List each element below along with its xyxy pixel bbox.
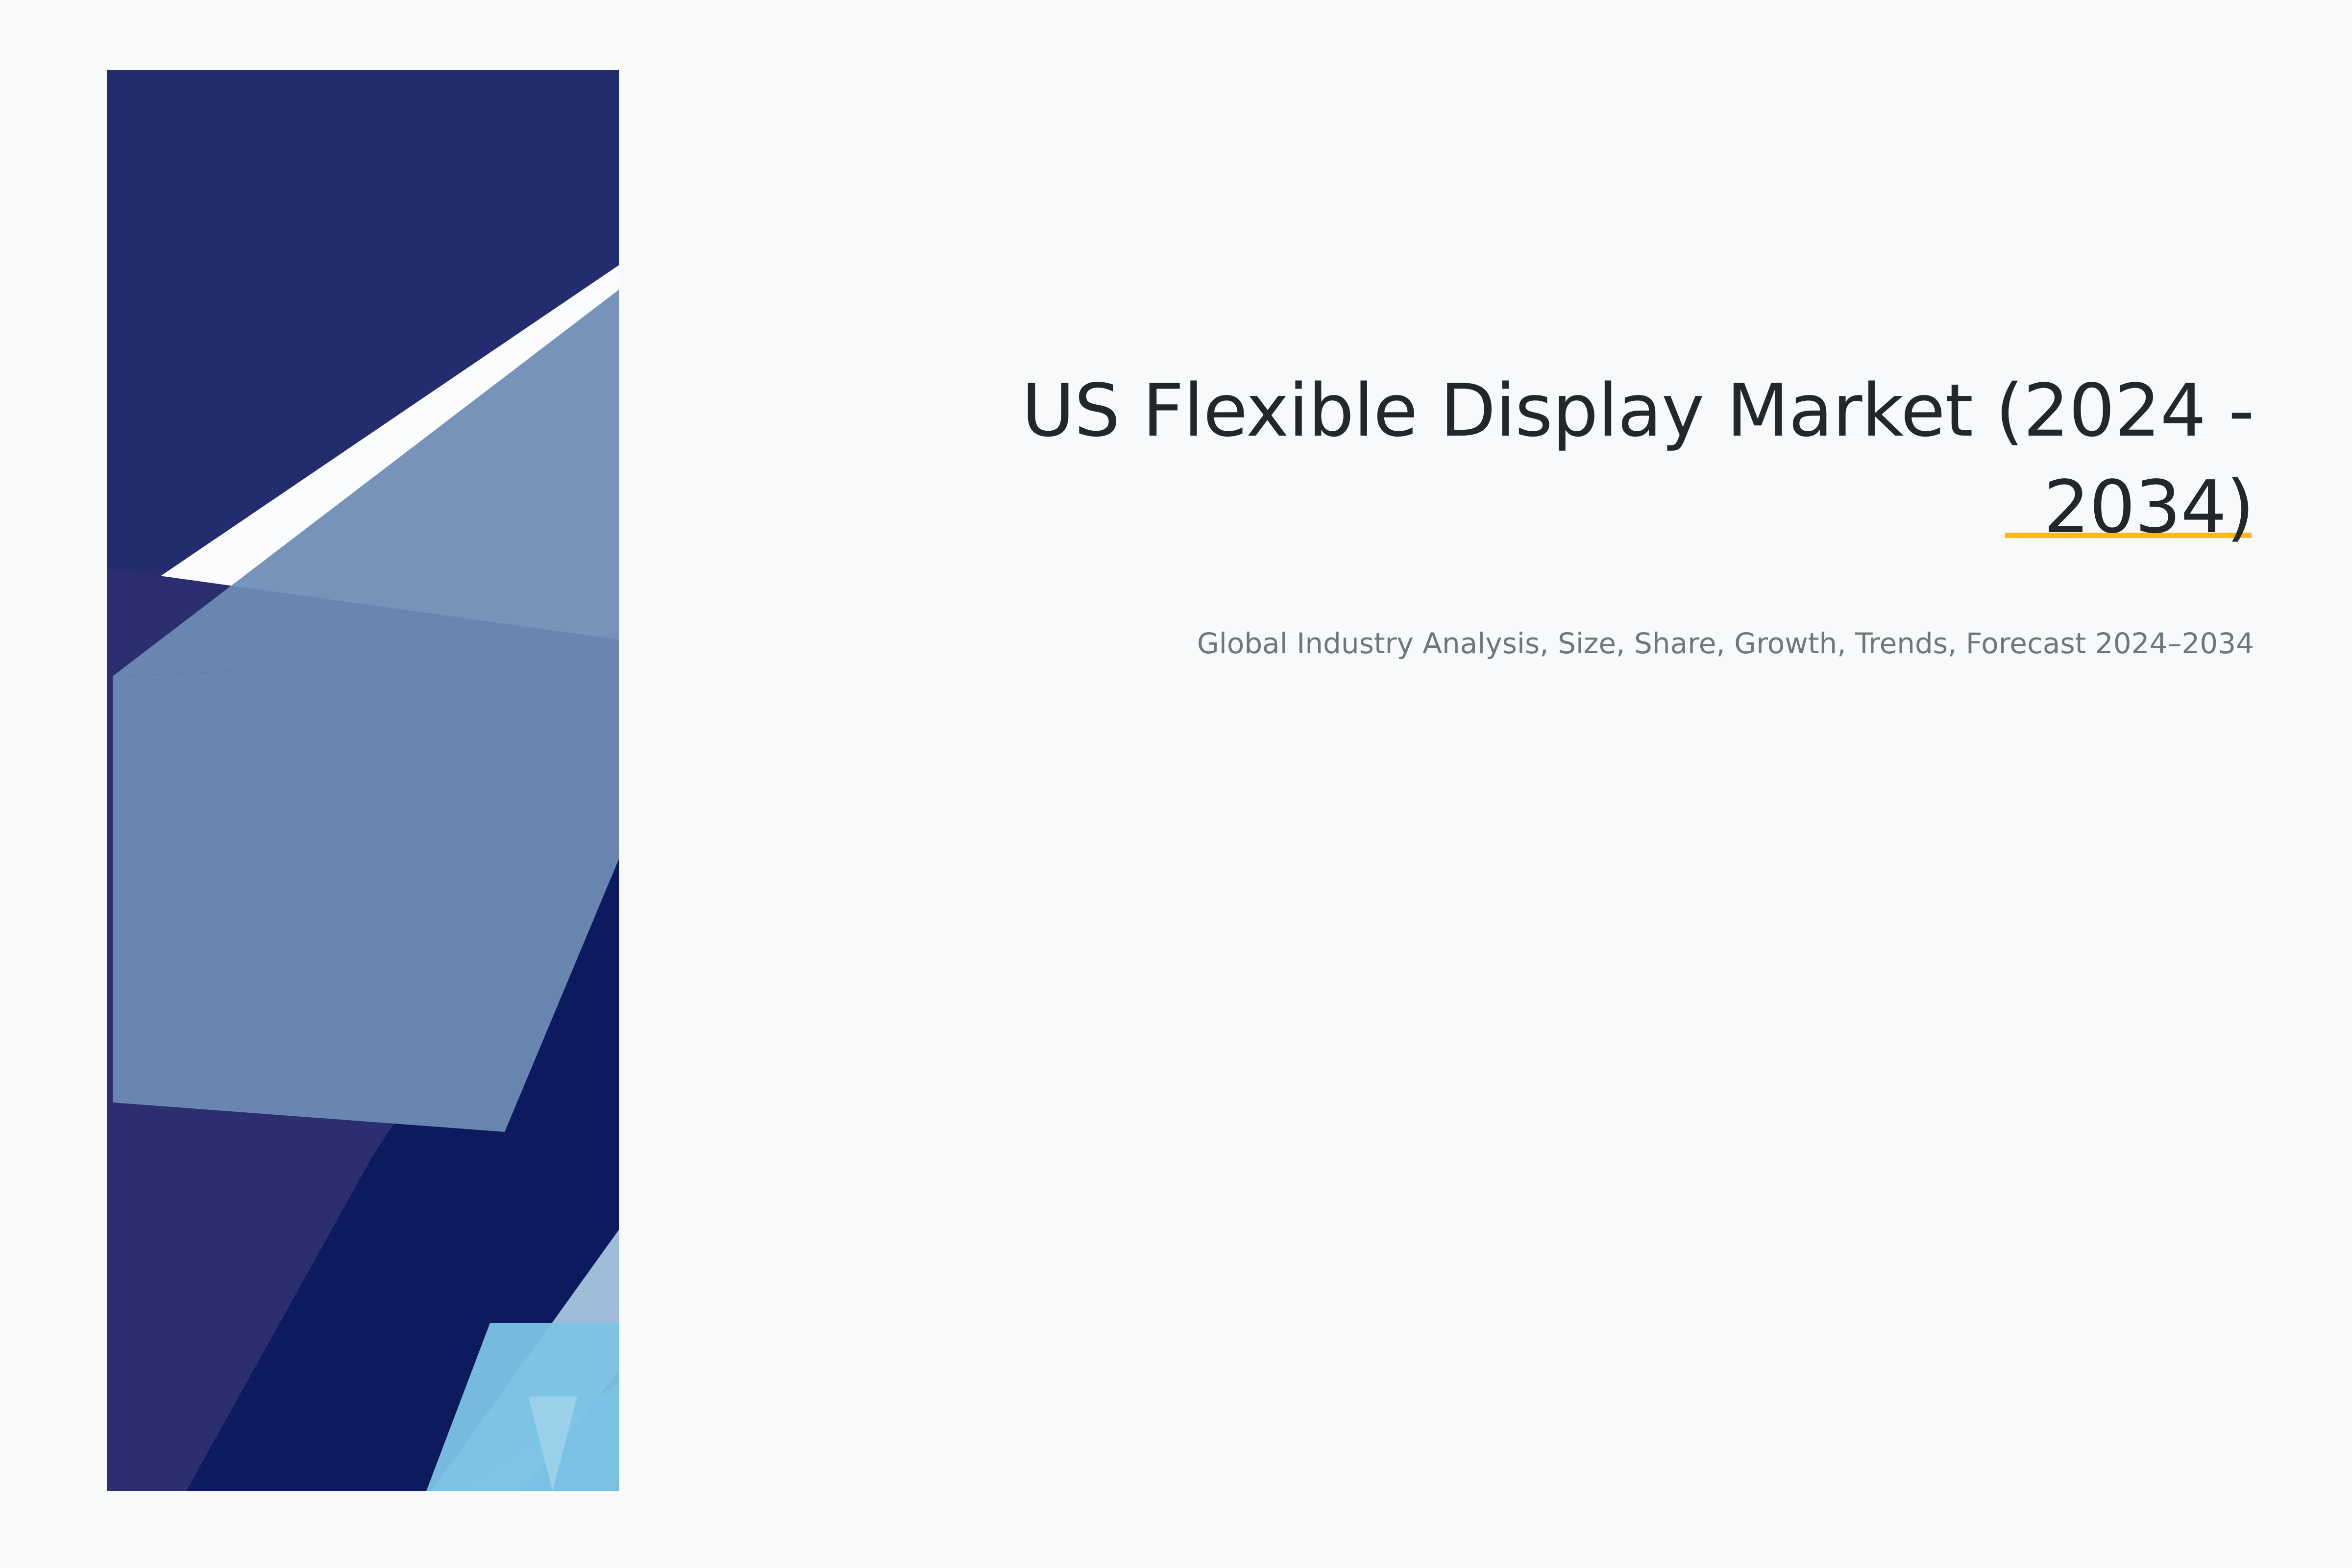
- cover-text-block: US Flexible Display Market (2024 - 2034)…: [833, 363, 2254, 665]
- navy-mid-triangle: [764, 70, 1272, 343]
- page-subtitle: Global Industry Analysis, Size, Share, G…: [833, 622, 2254, 665]
- title-wrapper: US Flexible Display Market (2024 - 2034): [833, 363, 2254, 556]
- navy-top-right-triangle: [906, 70, 1507, 323]
- page-title: US Flexible Display Market (2024 - 2034): [833, 363, 2254, 556]
- abstract-geometric-artwork: [0, 0, 2352, 1568]
- report-cover: US Flexible Display Market (2024 - 2034)…: [0, 0, 2352, 1568]
